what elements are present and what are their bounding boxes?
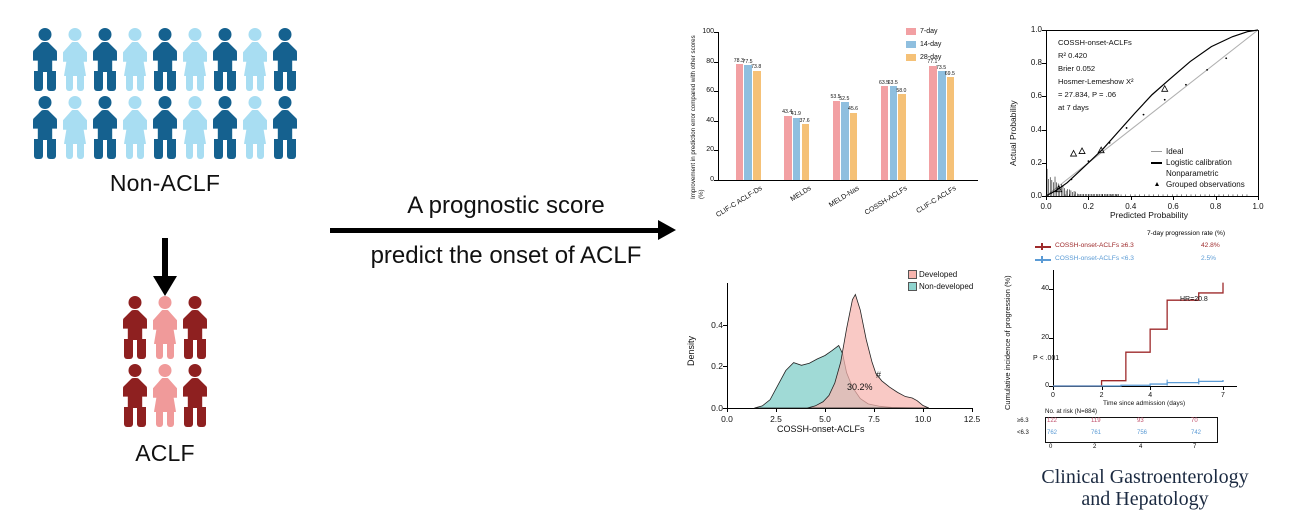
bar-legend-swatch-7-day [906,28,916,35]
risk-table-value: 762 [1047,430,1057,436]
person-leg [184,339,193,359]
person-icon [122,28,148,92]
risk-table-value: 93 [1137,418,1144,424]
person-leg [167,343,174,359]
bar-COSSH-ACLFs-14-day [890,86,898,180]
bar-legend-label: 7-day [920,28,938,35]
risk-table-right-rule [1217,417,1218,443]
person-icon [182,296,208,360]
cohort-illustration-panel: Non-ACLF ACLF [0,0,330,523]
calibration-annotation-line: at 7 days [1058,103,1089,112]
person-body [123,310,147,340]
journal-title-line2: and Hepatology [995,488,1295,510]
bar-COSSH-ACLFs-7-day [881,86,889,180]
bar-value-label: 45.6 [848,106,858,112]
person-leg [77,75,84,91]
person-head [129,28,142,41]
aclf-people-row [0,296,330,360]
calibration-nonparametric-point [1225,57,1227,59]
person-leg [214,139,223,159]
person-head [159,96,172,109]
bar-y-tick-label: 20 [696,146,714,153]
cumulative-incidence-plot: 7-day progression rate (%) COSSH-onset-A… [995,228,1295,460]
calibration-nonparametric-point [1126,127,1128,129]
person-icon [272,96,298,160]
person-leg [47,139,56,159]
person-icon [122,296,148,360]
person-body [153,310,177,344]
person-head [129,96,142,109]
person-body [93,110,117,140]
calibration-curves [1000,16,1290,228]
arrow-head [153,276,177,296]
density-legend-label: Non-developed [919,282,973,291]
risk-table-time-label: 2 [1093,444,1096,450]
calibration-nonparametric-point [1071,179,1073,181]
person-leg [156,343,163,359]
bar-value-label: 52.5 [839,96,849,102]
bar-legend-label: 28-day [920,54,941,61]
calibration-legend-label: Nonparametric [1166,169,1218,178]
person-body [33,42,57,72]
bar-x-axis [718,180,978,181]
person-head [279,96,292,109]
density-annotation-marker: # [876,370,881,380]
risk-table-time-label: 0 [1049,444,1052,450]
journal-title-line1: Clinical Gastroenterology [995,466,1295,488]
person-body [93,42,117,72]
risk-table-value: 756 [1137,430,1147,436]
density-legend-swatch-Developed [908,270,917,279]
person-icon [212,96,238,160]
person-body [183,110,207,144]
risk-table-value: 70 [1191,418,1198,424]
prognostic-score-arrow: A prognostic score predict the onset of … [330,192,682,270]
risk-table-value: 122 [1047,418,1057,424]
person-icon [152,96,178,160]
person-icon [182,364,208,428]
bar-CLIF-C ACLFs-7-day [929,66,937,180]
bar-category-label: MELD-Nas [808,185,861,222]
person-leg [186,143,193,159]
calibration-plot: Actual Probability Predicted Probability… [1000,16,1290,228]
calibration-nonparametric-point [1088,160,1090,162]
person-head [189,96,202,109]
calibration-legend-line-0 [1151,151,1162,152]
bar-y-tick [714,62,718,63]
bar-MELD-Nas-14-day [841,102,849,180]
person-head [249,96,262,109]
person-leg [167,411,174,427]
person-leg [124,407,133,427]
arrow-shaft [162,238,168,280]
bar-MELD-Nas-7-day [833,101,841,180]
person-leg [287,139,296,159]
bar-value-label: 37.6 [800,118,810,124]
person-icon [242,96,268,160]
calibration-nonparametric-point [1185,84,1187,86]
bar-CLIF-C ACLF-Ds-28-day [753,71,761,180]
risk-table-row-label: <6.3 [1017,430,1029,436]
bar-value-label: 58.0 [896,88,906,94]
person-leg [246,143,253,159]
person-body [123,42,147,76]
person-body [153,42,177,72]
improvement-bar-chart: Improvement in prediction error compared… [678,14,978,226]
person-body [153,378,177,412]
calibration-nonparametric-point [1143,114,1145,116]
density-annotation: 30.2% [847,382,873,392]
person-body [243,42,267,76]
cuminc-step-1 [1053,380,1223,386]
bar-MELD-Nas-28-day [850,113,858,180]
calibration-grouped-observation [1079,148,1085,154]
person-leg [94,139,103,159]
person-leg [287,71,296,91]
person-leg [184,407,193,427]
person-head [219,96,232,109]
person-icon [182,96,208,160]
bar-y-tick-label: 40 [696,117,714,124]
risk-table-time-label: 7 [1193,444,1196,450]
person-body [153,110,177,140]
bar-legend-swatch-28-day [906,54,916,61]
person-head [189,296,202,309]
person-leg [257,75,264,91]
person-icon [32,28,58,92]
bar-y-tick-label: 0 [696,176,714,183]
transition-arrow-down [0,238,330,298]
person-leg [124,339,133,359]
person-body [63,110,87,144]
person-body [123,110,147,144]
bar-y-axis [718,32,719,180]
bar-y-tick [714,150,718,151]
non-aclf-label: Non-ACLF [0,170,330,197]
person-icon [62,28,88,92]
calibration-annotation-line: Brier 0.052 [1058,64,1095,73]
person-leg [197,407,206,427]
bar-y-tick [714,121,718,122]
person-body [273,42,297,72]
bar-CLIF-C ACLFs-14-day [938,71,946,180]
density-plot: Density COSSH-onset-ACLFs 0.02.55.07.510… [672,258,992,448]
bar-y-tick-label: 80 [696,58,714,65]
bar-legend-swatch-14-day [906,41,916,48]
bar-category-label: COSSH-ACLFs [856,185,909,222]
bar-legend-label: 14-day [920,41,941,48]
arrow-shaft [330,228,660,233]
bar-CLIF-C ACLFs-28-day [947,77,955,180]
person-head [39,96,52,109]
down-arrow-icon [145,238,185,298]
person-leg [34,139,43,159]
bar-category-label: CLIF-C ACLF-Ds [711,185,764,222]
person-leg [137,339,146,359]
risk-table-time-label: 4 [1139,444,1142,450]
risk-table-value: 761 [1091,430,1101,436]
bar-CLIF-C ACLF-Ds-7-day [736,64,744,180]
person-leg [227,71,236,91]
bar-value-label: 63.5 [888,80,898,86]
calibration-annotation-line: COSSH-onset-ACLFs [1058,38,1132,47]
person-icon [92,96,118,160]
person-leg [126,143,133,159]
calibration-legend-triangle [1155,182,1159,186]
person-leg [66,75,73,91]
person-head [39,28,52,41]
cuminc-step-curves [995,228,1295,460]
person-leg [186,75,193,91]
journal-title: Clinical Gastroenterology and Hepatology [995,466,1295,511]
person-body [273,110,297,140]
person-leg [77,143,84,159]
cuminc-p-value: P < .001 [1033,355,1059,362]
person-head [129,364,142,377]
person-head [129,296,142,309]
person-leg [167,139,176,159]
arrow-line [330,224,682,238]
person-leg [66,143,73,159]
bar-chart-y-axis-label: Improvement in prediction error compared… [690,29,706,199]
person-leg [107,139,116,159]
calibration-nonparametric-point [1164,99,1166,101]
person-icon [152,296,178,360]
person-head [99,28,112,41]
density-legend-swatch-Non-developed [908,282,917,291]
person-leg [197,143,204,159]
person-icon [122,96,148,160]
person-head [279,28,292,41]
person-icon [272,28,298,92]
risk-table-title: No. at risk (N=884) [1045,408,1097,415]
person-body [63,42,87,76]
bar-value-label: 73.8 [751,64,761,70]
calibration-legend-label: Logistic calibration [1166,158,1232,167]
calibration-nonparametric-point [1109,142,1111,144]
arrow-text-bottom: predict the onset of ACLF [330,242,682,270]
person-leg [246,75,253,91]
person-head [69,96,82,109]
calibration-nonparametric-point [1206,69,1208,71]
non-aclf-people-row [0,96,330,160]
person-leg [197,339,206,359]
person-leg [274,71,283,91]
aclf-label: ACLF [0,440,330,467]
person-leg [34,71,43,91]
bar-MELDs-28-day [802,124,810,180]
density-legend-label: Developed [919,270,957,279]
non-aclf-people-row [0,28,330,92]
person-icon [32,96,58,160]
calibration-legend-label: Ideal [1166,147,1183,156]
person-head [159,28,172,41]
person-head [219,28,232,41]
bar-MELDs-7-day [784,116,792,180]
person-leg [227,139,236,159]
calibration-annotation-line: = 27.834, P = .06 [1058,90,1116,99]
person-body [123,378,147,408]
person-leg [257,143,264,159]
person-icon [62,96,88,160]
person-icon [122,364,148,428]
person-leg [94,71,103,91]
person-leg [274,139,283,159]
risk-table-row-label: ≥6.3 [1017,418,1029,424]
bar-value-label: 69.5 [945,71,955,77]
person-leg [214,71,223,91]
bar-category-label: CLIF-C ACLFs [905,185,958,222]
calibration-annotation-line: Hosmer-Lemeshow X² [1058,77,1134,86]
person-head [69,28,82,41]
person-leg [137,143,144,159]
bar-y-tick [714,32,718,33]
bar-CLIF-C ACLF-Ds-14-day [744,65,752,180]
person-leg [137,407,146,427]
person-body [243,110,267,144]
calibration-grouped-observation [1071,150,1077,156]
person-body [183,42,207,76]
cuminc-hazard-ratio: HR=20.8 [1180,296,1208,303]
bar-category-label: MELDs [759,185,812,222]
person-body [183,378,207,408]
risk-table-bottom-rule [1045,442,1217,443]
non-aclf-group: Non-ACLF [0,28,330,197]
calibration-annotation-line: R² 0.420 [1058,51,1087,60]
person-head [189,28,202,41]
person-head [189,364,202,377]
person-head [159,296,172,309]
bar-y-tick-label: 60 [696,87,714,94]
risk-table-value: 742 [1191,430,1201,436]
person-leg [154,139,163,159]
person-head [159,364,172,377]
person-head [99,96,112,109]
person-icon [212,28,238,92]
person-leg [107,71,116,91]
person-leg [137,75,144,91]
aclf-people-row [0,364,330,428]
person-head [249,28,262,41]
person-leg [126,75,133,91]
person-icon [152,364,178,428]
bar-y-tick [714,91,718,92]
person-body [213,42,237,72]
bar-value-label: 41.9 [791,111,801,117]
person-leg [167,71,176,91]
aclf-group: ACLF [0,296,330,467]
bar-MELDs-14-day [793,118,801,180]
bar-y-tick-label: 100 [696,28,714,35]
arrow-head-icon [658,220,676,240]
arrow-text-top: A prognostic score [330,192,682,220]
calibration-legend-line-1 [1151,162,1162,164]
person-leg [156,411,163,427]
calibration-grouped-observation [1162,86,1168,92]
person-icon [92,28,118,92]
risk-table-value: 119 [1091,418,1101,424]
person-body [33,110,57,140]
person-icon [182,28,208,92]
person-leg [154,71,163,91]
person-leg [47,71,56,91]
person-body [213,110,237,140]
risk-table-left-rule [1045,417,1046,443]
calibration-legend-label: Grouped observations [1166,180,1245,189]
bar-COSSH-ACLFs-28-day [898,94,906,180]
person-body [183,310,207,340]
bar-y-tick [714,180,718,181]
person-leg [197,75,204,91]
person-icon [152,28,178,92]
person-icon [242,28,268,92]
